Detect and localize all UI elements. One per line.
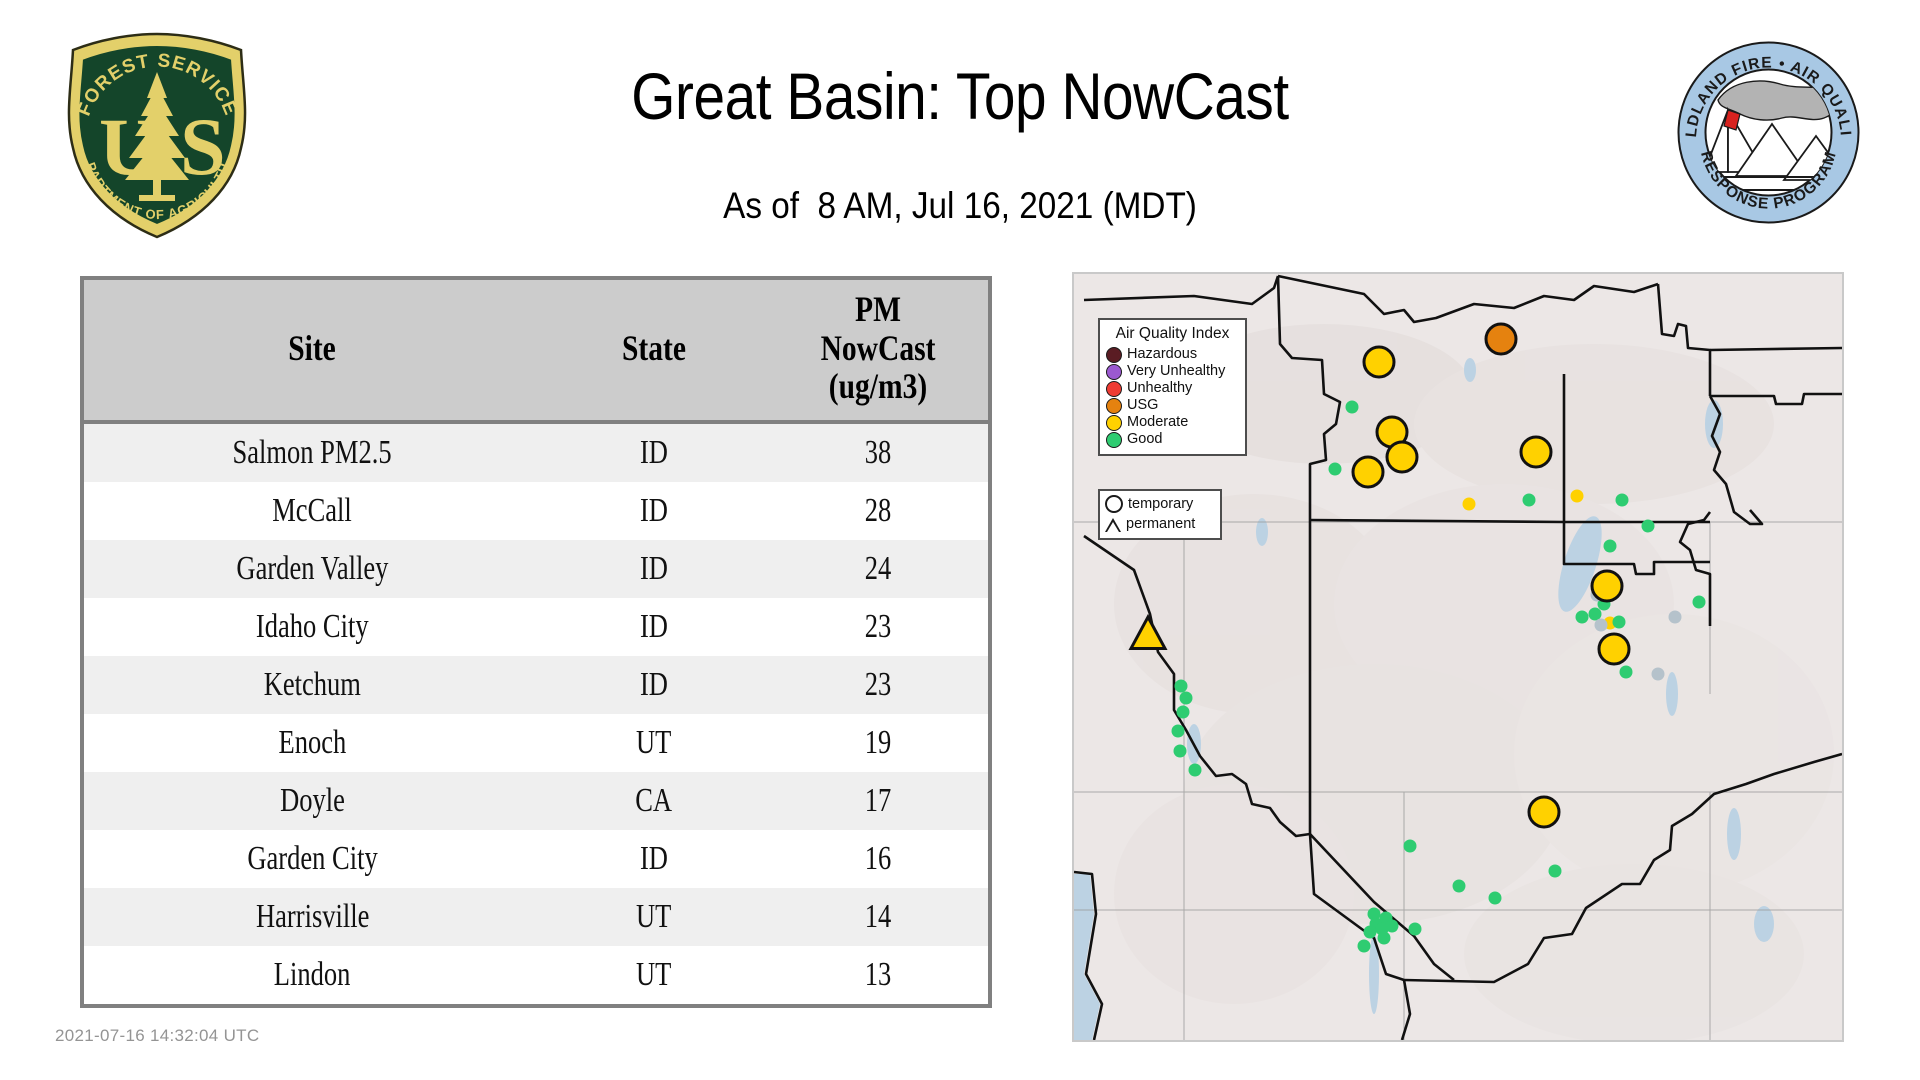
table-cell-pm: 13 [768,946,990,1006]
monitor-marker-lindon[interactable] [1599,634,1629,664]
table-row: LindonUT13 [82,946,990,1006]
aqi-legend-label: USG [1127,398,1158,413]
table-cell-pm-text: 17 [865,782,892,820]
table-cell-site-text: Lindon [274,956,351,994]
aqi-legend-item: Good [1106,431,1239,448]
monitor-dot [1378,932,1391,945]
table-cell-pm: 28 [768,482,990,540]
table-cell-site-text: Garden City [247,840,377,878]
table-cell-state: CA [541,772,768,830]
table-cell-pm: 24 [768,540,990,598]
temporary-circle-icon [1105,495,1123,513]
table-cell-state-text: UT [636,898,671,936]
aqi-swatch-icon [1106,398,1122,414]
table-cell-state: UT [541,946,768,1006]
aqi-swatch-icon [1106,381,1122,397]
monitor-dot [1463,498,1476,511]
monitor-dot [1549,865,1562,878]
monitor-dot [1174,745,1187,758]
table-cell-pm: 38 [768,422,990,482]
table-row: KetchumID23 [82,656,990,714]
monitor-marker-ketchum[interactable] [1387,442,1417,472]
permanent-label: permanent [1126,516,1195,532]
table-cell-state-text: ID [640,550,668,588]
monitor-dot [1189,764,1202,777]
table-cell-state-text: CA [636,782,673,820]
slide-canvas: U S FOREST SERVICE DEPARTMENT OF AGRICUL… [0,0,1920,1080]
aqi-legend-rows: HazardousVery UnhealthyUnhealthyUSGModer… [1106,346,1239,448]
table-cell-pm: 23 [768,656,990,714]
table-cell-site: Ketchum [82,656,541,714]
monitor-marker-salmon-pm2-5[interactable] [1486,324,1516,354]
monitor-dot [1571,490,1584,503]
aqi-swatch-icon [1106,364,1122,380]
nowcast-table-container: Site State PM NowCast (ug/m3) Salmon PM2… [80,276,992,1008]
table-cell-state-text: ID [640,666,668,704]
table-row: Garden ValleyID24 [82,540,990,598]
monitor-type-legend: temporary permanent [1098,489,1222,540]
monitor-dot [1595,619,1608,632]
table-cell-pm-text: 38 [865,434,892,472]
monitor-marker-enoch[interactable] [1529,797,1559,827]
aqi-swatch-icon [1106,415,1122,431]
aqi-swatch-icon [1106,347,1122,363]
table-cell-site-text: Ketchum [264,666,361,704]
monitor-dot [1180,692,1193,705]
table-cell-pm: 17 [768,772,990,830]
column-header-site: Site [82,278,541,422]
table-cell-site: Idaho City [82,598,541,656]
aqi-legend-title: Air Quality Index [1106,325,1239,343]
page-title: Great Basin: Top NowCast [134,58,1785,134]
table-cell-site: Lindon [82,946,541,1006]
column-header-pm-nowcast: PM NowCast (ug/m3) [768,278,990,422]
table-cell-pm-text: 28 [865,492,892,530]
aqi-legend-item: Very Unhealthy [1106,363,1239,380]
aqi-legend-label: Moderate [1127,415,1188,430]
nowcast-table: Site State PM NowCast (ug/m3) Salmon PM2… [80,276,992,1008]
monitor-dot [1358,940,1371,953]
table-cell-site-text: Doyle [280,782,345,820]
aqi-legend-item: Unhealthy [1106,380,1239,397]
table-cell-pm: 16 [768,830,990,888]
table-cell-state-text: UT [636,956,671,994]
table-row: McCallID28 [82,482,990,540]
table-cell-site: Doyle [82,772,541,830]
monitor-dot [1453,880,1466,893]
monitor-dot [1616,494,1629,507]
monitor-marker-garden-city[interactable] [1521,437,1551,467]
table-cell-site: McCall [82,482,541,540]
monitor-dot [1489,892,1502,905]
monitor-dot [1172,725,1185,738]
table-cell-site-text: Garden Valley [236,550,388,588]
table-cell-site: Garden City [82,830,541,888]
great-basin-map[interactable]: Air Quality Index HazardousVery Unhealth… [1072,272,1844,1042]
monitor-dot [1364,926,1377,939]
aqi-legend-label: Unhealthy [1127,381,1192,396]
aqi-legend-item: Moderate [1106,414,1239,431]
table-cell-state: ID [541,598,768,656]
monitor-dot [1329,463,1342,476]
table-cell-state: ID [541,482,768,540]
table-cell-site-text: Harrisville [256,898,369,936]
table-cell-site-text: Idaho City [256,608,369,646]
table-cell-state-text: ID [640,608,668,646]
generated-timestamp: 2021-07-16 14:32:04 UTC [55,1026,259,1046]
table-cell-pm: 23 [768,598,990,656]
legend-row-permanent: permanent [1105,514,1215,534]
table-cell-state: ID [541,656,768,714]
table-cell-pm-text: 16 [865,840,892,878]
column-header-state: State [541,278,768,422]
table-cell-state: UT [541,714,768,772]
table-cell-state: ID [541,540,768,598]
table-row: Garden CityID16 [82,830,990,888]
aqi-legend-label: Very Unhealthy [1127,364,1225,379]
monitor-dot [1669,611,1682,624]
table-row: Salmon PM2.5ID38 [82,422,990,482]
monitor-dot [1177,706,1190,719]
table-cell-pm-text: 13 [865,956,892,994]
monitor-dot [1604,540,1617,553]
table-row: EnochUT19 [82,714,990,772]
aqi-legend-item: USG [1106,397,1239,414]
aqi-legend-item: Hazardous [1106,346,1239,363]
table-cell-pm-text: 14 [865,898,892,936]
monitor-dot [1175,680,1188,693]
aqi-legend-label: Good [1127,432,1162,447]
monitor-dot [1346,401,1359,414]
table-cell-site: Salmon PM2.5 [82,422,541,482]
table-cell-state: ID [541,422,768,482]
table-cell-pm-text: 19 [865,724,892,762]
page-subtitle: As of 8 AM, Jul 16, 2021 (MDT) [96,185,1824,227]
table-cell-state-text: ID [640,434,668,472]
table-cell-site-text: Salmon PM2.5 [233,434,392,472]
aqi-legend: Air Quality Index HazardousVery Unhealth… [1098,318,1247,456]
table-body: Salmon PM2.5ID38McCallID28Garden ValleyI… [82,422,990,1006]
table-header: Site State PM NowCast (ug/m3) [82,278,990,422]
table-cell-pm-text: 23 [865,608,892,646]
table-header-row: Site State PM NowCast (ug/m3) [82,278,990,422]
monitor-marker-harrisville[interactable] [1592,571,1622,601]
table-cell-state-text: ID [640,492,668,530]
aqi-swatch-icon [1106,432,1122,448]
table-cell-pm: 14 [768,888,990,946]
monitor-dot [1409,923,1422,936]
temporary-label: temporary [1128,496,1193,512]
monitor-dot [1652,668,1665,681]
monitor-marker-mccall[interactable] [1364,347,1394,377]
monitor-dot [1404,840,1417,853]
table-row: Idaho CityID23 [82,598,990,656]
table-row: DoyleCA17 [82,772,990,830]
table-cell-state: UT [541,888,768,946]
table-cell-site-text: Enoch [278,724,346,762]
permanent-triangle-icon [1105,517,1121,532]
monitor-dot [1620,666,1633,679]
monitor-dot [1613,616,1626,629]
monitor-dot [1523,494,1536,507]
monitor-dot [1589,608,1602,621]
monitor-dot [1386,920,1399,933]
table-cell-pm-text: 23 [865,666,892,704]
table-cell-pm: 19 [768,714,990,772]
legend-row-temporary: temporary [1105,494,1215,514]
monitor-marker-idaho-city[interactable] [1353,457,1383,487]
table-cell-state-text: ID [640,840,668,878]
table-cell-site: Enoch [82,714,541,772]
table-cell-state: ID [541,830,768,888]
monitor-dot [1693,596,1706,609]
table-cell-pm-text: 24 [865,550,892,588]
monitor-dot [1576,611,1589,624]
aqi-legend-label: Hazardous [1127,347,1197,362]
table-cell-site-text: McCall [272,492,352,530]
table-cell-site: Garden Valley [82,540,541,598]
monitor-dot [1642,520,1655,533]
table-cell-state-text: UT [636,724,671,762]
table-cell-site: Harrisville [82,888,541,946]
table-row: HarrisvilleUT14 [82,888,990,946]
